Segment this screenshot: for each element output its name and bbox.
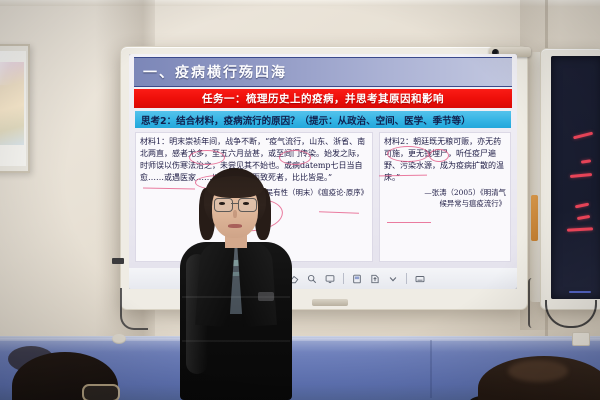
teacher-glasses-left-lens (214, 198, 233, 212)
frame-glass-glare (0, 51, 26, 85)
export-tool-icon[interactable] (370, 274, 380, 284)
power-cable (528, 278, 538, 328)
panel-side-port (112, 258, 124, 264)
ink-stroke (577, 215, 590, 220)
teacher-coat-badge (258, 292, 274, 301)
slide-title-band: 一、疫病横行殇四海 (134, 57, 512, 87)
panel-power-cable (120, 288, 148, 330)
task-banner-text: 任务一：梳理历史上的疫病，并思考其原因和影响 (202, 91, 444, 106)
wainscot-highlight (0, 338, 600, 352)
student-left-glasses (82, 384, 120, 400)
ink-stroke (581, 159, 591, 163)
annotation-circle (279, 150, 311, 165)
teacher-eye-right (243, 202, 249, 205)
teacher-glasses-bridge (231, 203, 238, 204)
secondary-display-edge (530, 52, 540, 302)
teacher-nose (233, 210, 237, 218)
ink-stroke (575, 203, 589, 208)
wall-fitting (112, 334, 126, 344)
screen-tool-icon[interactable] (325, 274, 335, 284)
toolbar-divider (406, 273, 407, 284)
ink-stroke (570, 173, 592, 177)
annotation-underline (387, 222, 431, 223)
classroom-photo-scene: 一、疫病横行殇四海 任务一：梳理历史上的疫病，并思考其原因和影响 思考2：结合材… (0, 0, 600, 400)
teacher-figure (176, 168, 294, 400)
task-banner: 任务一：梳理历史上的疫病，并思考其原因和影响 (134, 89, 512, 108)
magnifier-tool-icon[interactable] (307, 274, 317, 284)
chevron-down-tool-icon[interactable] (388, 274, 398, 284)
page-title: 一、疫病横行殇四海 (134, 62, 287, 82)
think-prompt-bar: 思考2：结合材料，疫病流行的原因？（提示：从政治、空间、医学、季节等） (135, 111, 511, 128)
ceiling-trim (0, 0, 600, 6)
material-2-citation: —张涛（2005）《明清气 (384, 187, 506, 198)
teacher-mouth (228, 224, 242, 228)
panel-brand-logo (312, 299, 348, 306)
keyboard-tool-icon[interactable] (415, 274, 425, 284)
framed-artwork (0, 44, 30, 173)
ink-stroke (567, 227, 593, 231)
teacher-coat-seam (182, 340, 290, 342)
annotation-circle (429, 149, 449, 162)
teacher-collar-right (237, 241, 277, 327)
annotation-circle (189, 150, 225, 165)
annotation-circle (387, 146, 429, 162)
think-prompt-text: 思考2：结合材料，疫病流行的原因？（提示：从政治、空间、医学、季节等） (135, 113, 471, 127)
secondary-display-side-strip (531, 195, 538, 241)
ink-stroke (573, 132, 593, 139)
page-tool-icon[interactable] (352, 274, 362, 284)
secondary-display-screen[interactable] (551, 56, 600, 299)
teacher-fringe (207, 176, 263, 198)
wainscot-joint (430, 340, 432, 398)
student-right-hair-highlight (508, 360, 568, 382)
teacher-glasses-right-lens (238, 198, 257, 212)
teacher-collar-left (195, 241, 235, 327)
material-2-citation-line2: 候异常与瘟疫流行》 (384, 198, 506, 209)
wall-socket (572, 332, 590, 346)
secondary-display-statusbar (569, 291, 591, 293)
teacher-eye-left (219, 202, 225, 205)
toolbar-divider (343, 273, 344, 284)
